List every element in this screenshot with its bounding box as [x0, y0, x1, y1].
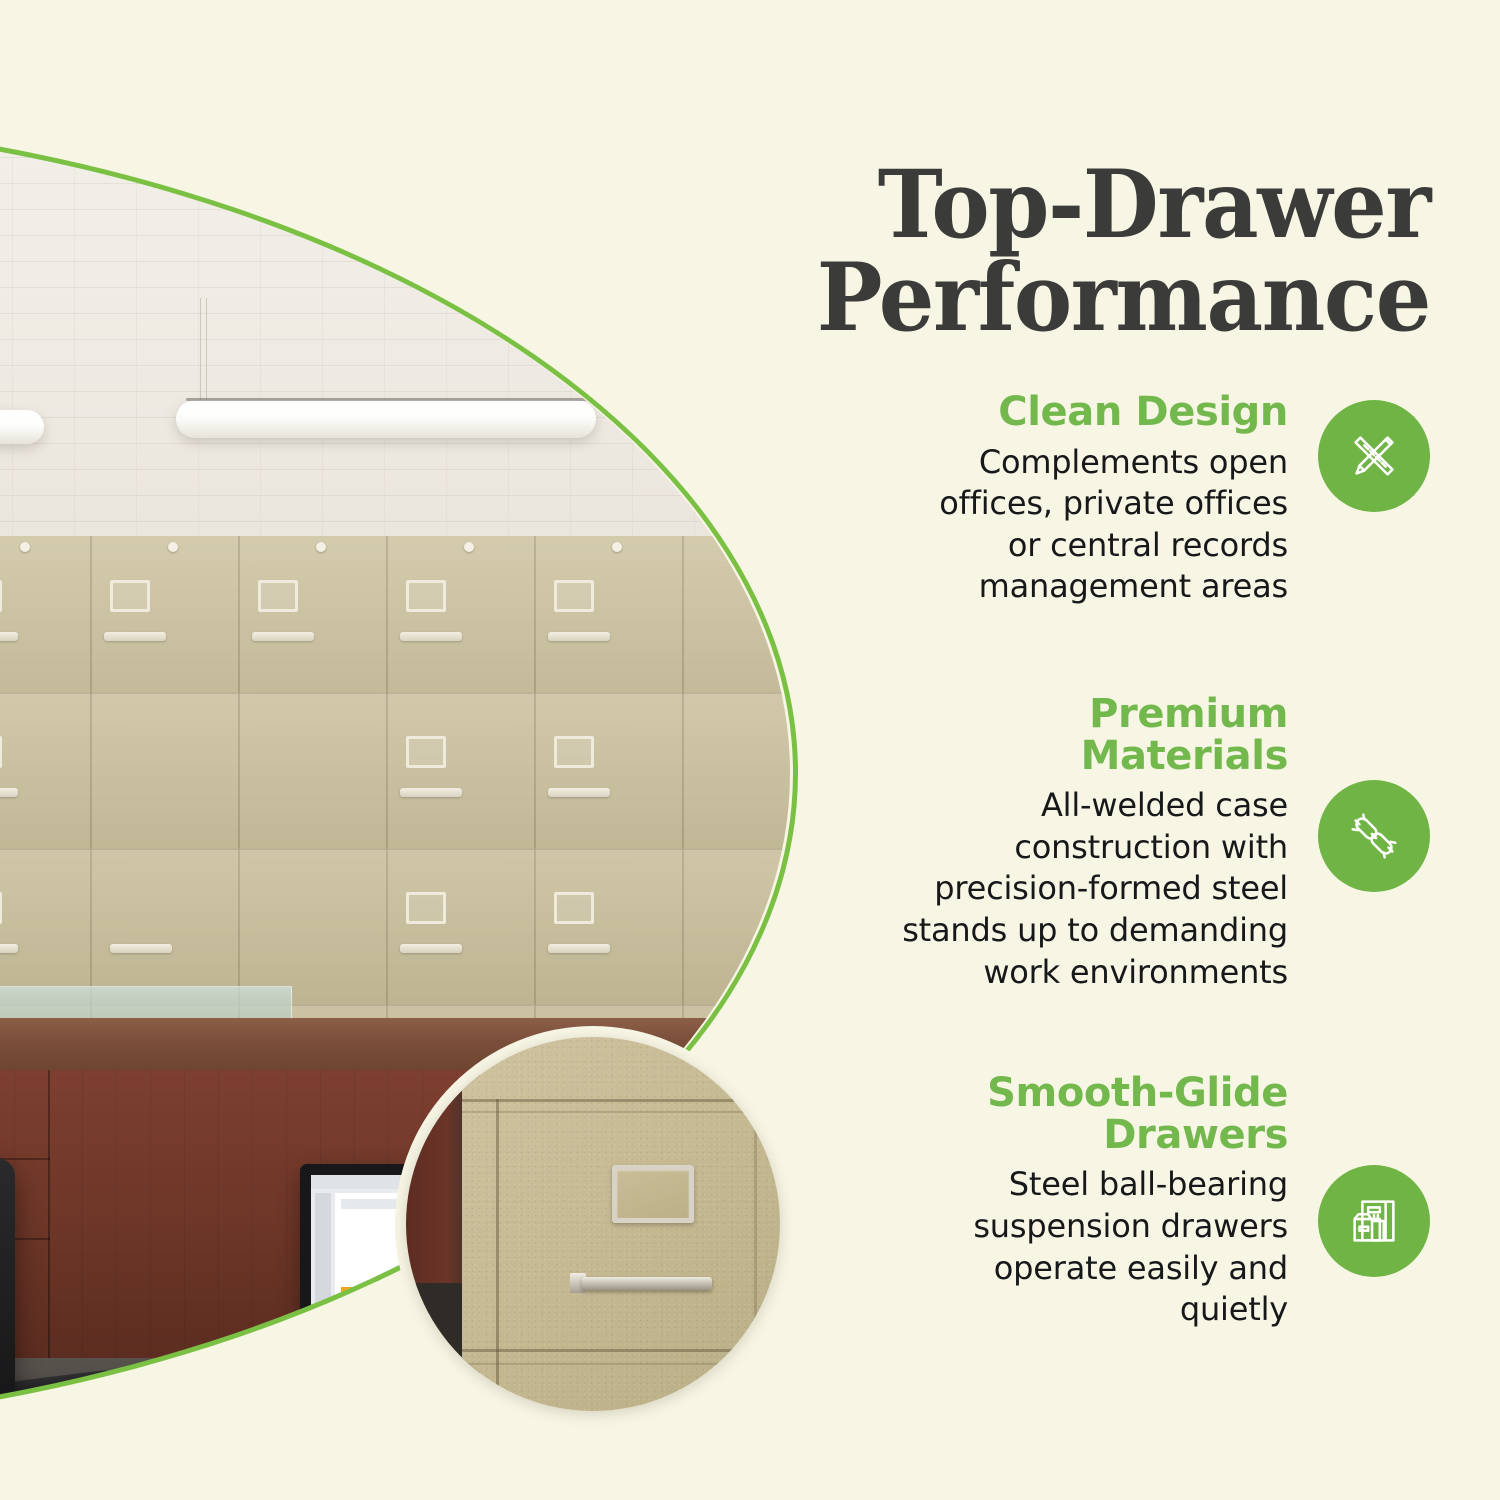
feature-item-clean-design: Clean Design Complements open offices, p…: [770, 392, 1430, 608]
feature-text: Premium Materials All-welded case constr…: [898, 694, 1288, 993]
feature-heading: Smooth-Glide Drawers: [898, 1073, 1288, 1156]
feature-text: Clean Design Complements open offices, p…: [898, 392, 1288, 608]
title-line-2: Performance: [816, 252, 1430, 345]
ruler-pencil-icon: [1318, 400, 1430, 512]
drawer-closeup-inset: [395, 1026, 791, 1422]
page-title: Top-Drawer Performance: [816, 159, 1430, 345]
pendant-wire: [206, 298, 207, 406]
cabinet-drawer-handle: [582, 1277, 712, 1290]
feature-heading: Premium Materials: [898, 694, 1288, 777]
feature-heading: Clean Design: [898, 392, 1288, 434]
office-chair-back: [0, 1158, 15, 1428]
chain-link-icon: [1318, 780, 1430, 892]
cabinet-label-holder: [612, 1165, 694, 1223]
infographic-stage: Top-Drawer Performance Clean Design Comp…: [0, 0, 1500, 1500]
feature-text: Smooth-Glide Drawers Steel ball-bearing …: [898, 1073, 1288, 1331]
pendant-light-secondary: [0, 410, 44, 444]
file-drawers-icon: [1318, 1165, 1430, 1277]
feature-item-premium-materials: Premium Materials All-welded case constr…: [770, 694, 1430, 993]
content-column: Top-Drawer Performance Clean Design Comp…: [760, 0, 1460, 1500]
feature-body: Complements open offices, private office…: [898, 442, 1288, 608]
brick-wall: [0, 118, 790, 548]
cabinet-drawer-face: [462, 1037, 780, 1411]
feature-list: Clean Design Complements open offices, p…: [770, 392, 1430, 1331]
pendant-wire: [200, 298, 201, 408]
feature-body: Steel ball-bearing suspension drawers op…: [898, 1164, 1288, 1330]
feature-body: All-welded case construction with precis…: [898, 785, 1288, 993]
feature-item-smooth-glide-drawers: Smooth-Glide Drawers Steel ball-bearing …: [770, 1073, 1430, 1331]
pendant-light: [176, 400, 596, 438]
